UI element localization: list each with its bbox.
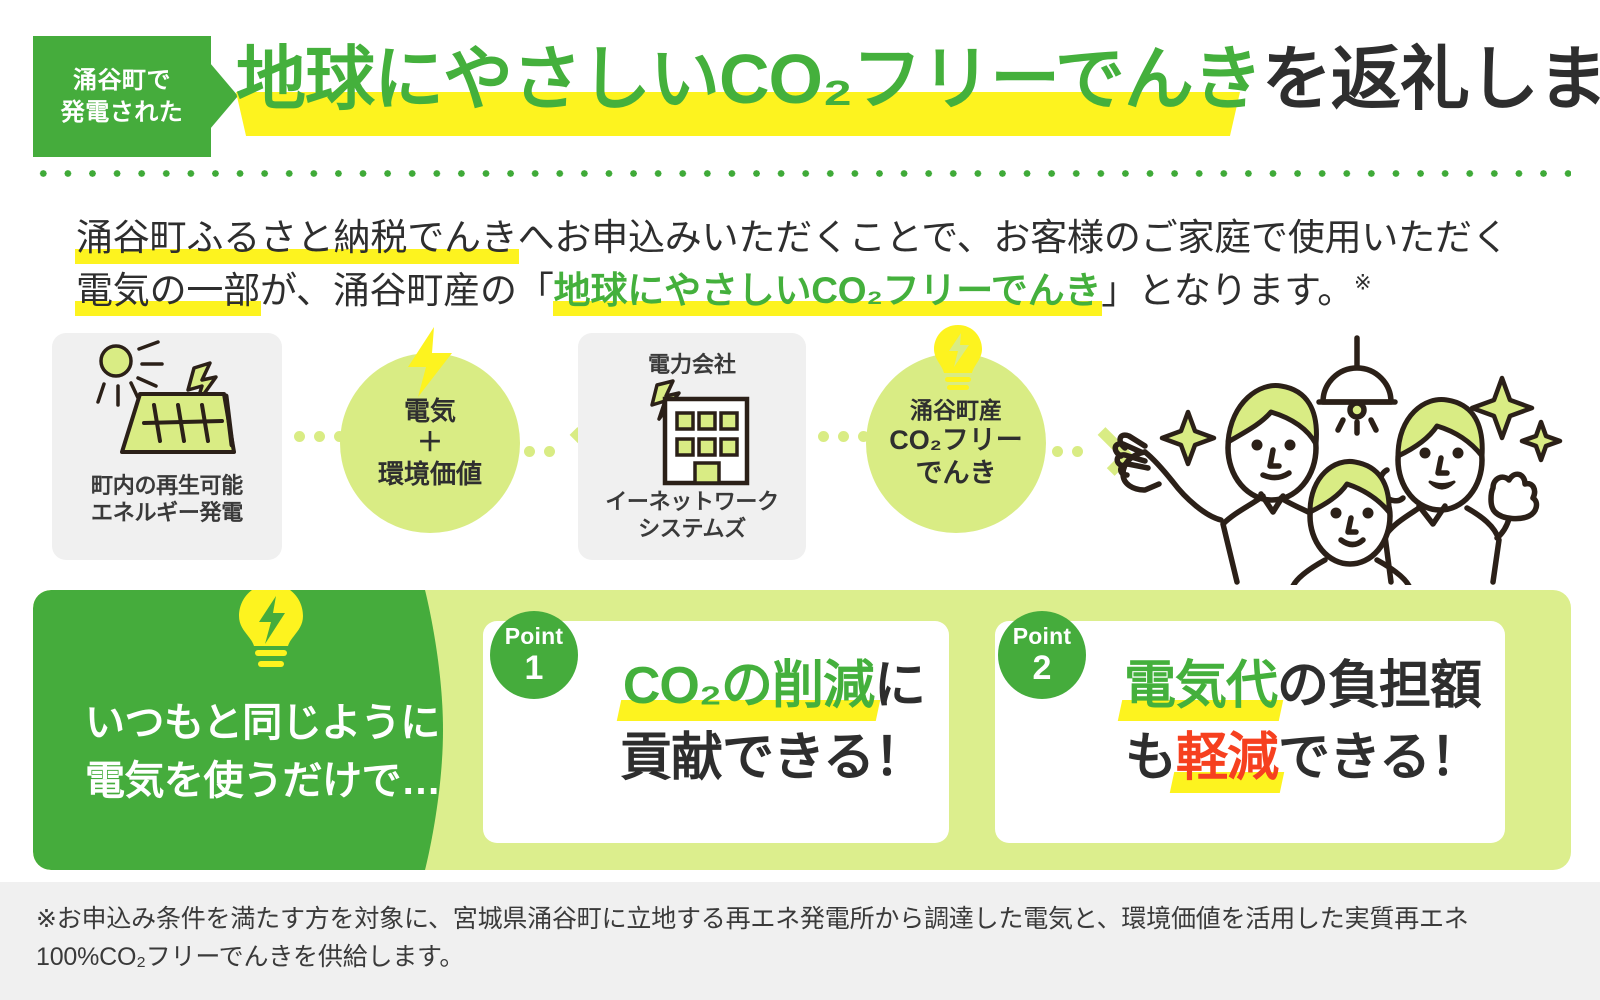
point-card-2-text: 電気代の負担額 も軽減できる！ xyxy=(1124,651,1481,795)
point-card-2-line1-dark: の負担額 xyxy=(1277,657,1481,715)
flow-step-electricity-plus: ＋ xyxy=(417,427,443,458)
building-icon xyxy=(617,379,767,489)
footer-text: ※お申込み条件を満たす方を対象に、宮城県涌谷町に立地する再エネ発電所から調達した… xyxy=(36,900,1566,976)
lead-line-2: 電気の一部が、涌谷町産の「地球にやさしいCO₂フリーでんき」となります。※ xyxy=(76,265,1556,318)
flow-step-electricity-line1: 電気 xyxy=(404,396,456,427)
point-badge-2-number: 2 xyxy=(1033,651,1052,685)
point-card-2-line2: も軽減できる！ xyxy=(1124,723,1481,795)
flow-step-power-company-label: 電力会社 xyxy=(648,347,736,379)
connector-dot xyxy=(294,431,305,442)
lead-line2-end: 」となります。 xyxy=(1101,270,1354,311)
family-illustration xyxy=(1085,320,1600,585)
point-card-2-line2-b: できる！ xyxy=(1278,729,1481,787)
connector-dot xyxy=(524,446,535,457)
footer-line-2: 100%CO₂フリーでんきを供給します。 xyxy=(36,938,1566,976)
connector-dot xyxy=(1052,446,1063,457)
flow-step-co2free-line1: 涌谷町産 xyxy=(910,396,1002,424)
flow-step-power-company-line1: イーネットワーク xyxy=(605,489,779,516)
lightbulb-icon xyxy=(231,590,311,672)
origin-tag: 涌谷町で 発電された xyxy=(33,36,211,157)
point-badge-1-word: Point xyxy=(505,625,564,648)
lead-paragraph: 涌谷町ふるさと納税でんきへお申込みいただくことで、お客様のご家庭で使用いただく … xyxy=(76,212,1556,317)
flow-step-family xyxy=(1085,320,1600,585)
lead-line-1: 涌谷町ふるさと納税でんきへお申込みいただくことで、お客様のご家庭で使用いただく xyxy=(76,212,1556,265)
point-card-1-line1-dark: に xyxy=(874,657,925,715)
lead-asterisk: ※ xyxy=(1354,271,1371,294)
footer-disclaimer: ※お申込み条件を満たす方を対象に、宮城県涌谷町に立地する再エネ発電所から調達した… xyxy=(0,882,1600,1000)
flow-step-co2free-line3: でんき xyxy=(916,457,997,490)
header: 涌谷町で 発電された 地球にやさしいCO₂フリーでんきを返礼します xyxy=(0,0,1600,175)
point-badge-1-number: 1 xyxy=(525,651,544,685)
benefits-intro-line2: 電気を使うだけで… xyxy=(85,752,455,810)
connector-dot xyxy=(1072,446,1083,457)
flow-step-renewable-line1: 町内の再生可能 xyxy=(91,473,243,500)
infographic-page: 涌谷町で 発電された 地球にやさしいCO₂フリーでんきを返礼します 涌谷町ふるさ… xyxy=(0,0,1600,1000)
flow-step-power-company-line2: システムズ xyxy=(605,516,779,543)
point-card-2-line2-red: 軽減 xyxy=(1176,723,1278,795)
footer-line-1: ※お申込み条件を満たす方を対象に、宮城県涌谷町に立地する再エネ発電所から調達した… xyxy=(36,900,1566,938)
flow-step-electricity: 電気 ＋ 環境価値 xyxy=(340,353,520,533)
flow-step-power-company: 電力会社 イーネットワーク システムズ xyxy=(578,333,806,560)
lead-line2-highlighted: 電気の一部 xyxy=(76,265,260,318)
lead-line2-mid: が、涌谷町産の「 xyxy=(260,270,554,311)
flow-connector-3 xyxy=(818,431,869,442)
process-flow: 町内の再生可能 エネルギー発電 電気 ＋ 環境価値 電力会社 xyxy=(0,325,1600,575)
solar-panel-icon xyxy=(82,333,252,473)
point-card-1-line1: CO₂の削減に xyxy=(620,651,925,723)
lead-line1-highlighted: 涌谷町ふるさと納税でんき xyxy=(76,212,518,265)
flow-step-renewable: 町内の再生可能 エネルギー発電 xyxy=(52,333,282,560)
lightning-bolt-icon xyxy=(402,325,458,399)
point-card-2-line1: 電気代の負担額 xyxy=(1124,651,1481,723)
page-title-green: 地球にやさしいCO₂フリーでんき xyxy=(236,40,1262,118)
benefits-panel: いつもと同じように 電気を使うだけで… CO₂の削減に 貢献できる！ Point… xyxy=(33,590,1571,870)
connector-dot xyxy=(838,431,849,442)
origin-tag-line2: 発電された xyxy=(61,97,184,129)
dotted-divider xyxy=(31,168,1571,179)
flow-step-power-company-caption: イーネットワーク システムズ xyxy=(605,489,779,543)
point-badge-2: Point 2 xyxy=(998,611,1086,699)
flow-step-electricity-line3: 環境価値 xyxy=(378,459,482,490)
point-card-2-line2-a: も xyxy=(1125,729,1176,787)
benefits-intro-text: いつもと同じように 電気を使うだけで… xyxy=(85,694,455,810)
lightbulb-icon xyxy=(932,323,984,399)
connector-dot xyxy=(818,431,829,442)
origin-tag-line1: 涌谷町で xyxy=(73,65,171,97)
flow-step-renewable-caption: 町内の再生可能 エネルギー発電 xyxy=(91,473,243,527)
point-badge-2-word: Point xyxy=(1013,625,1072,648)
point-card-1-text: CO₂の削減に 貢献できる！ xyxy=(620,651,925,795)
flow-step-co2free: 涌谷町産 CO₂フリー でんき xyxy=(866,353,1046,533)
flow-connector-1 xyxy=(294,431,345,442)
flow-step-co2free-line2: CO₂フリー xyxy=(889,424,1023,457)
lead-line2-green: 地球にやさしいCO₂フリーでんき xyxy=(554,265,1102,318)
flow-step-renewable-line2: エネルギー発電 xyxy=(91,500,243,527)
point-card-1-line1-green: CO₂の削減 xyxy=(623,651,874,723)
page-title-dark: を返礼します xyxy=(1262,40,1600,118)
lead-line1-rest: へお申込みいただくことで、お客様のご家庭で使用いただく xyxy=(518,217,1509,258)
point-card-2-line1-green: 電気代 xyxy=(1124,651,1277,723)
point-badge-1: Point 1 xyxy=(490,611,578,699)
connector-dot xyxy=(314,431,325,442)
page-title: 地球にやさしいCO₂フリーでんきを返礼します xyxy=(236,44,1600,114)
benefits-intro-line1: いつもと同じように xyxy=(85,694,455,752)
connector-dot xyxy=(544,446,555,457)
point-card-1-line2: 貢献できる！ xyxy=(620,723,925,795)
tag-arrow-icon xyxy=(210,63,238,129)
